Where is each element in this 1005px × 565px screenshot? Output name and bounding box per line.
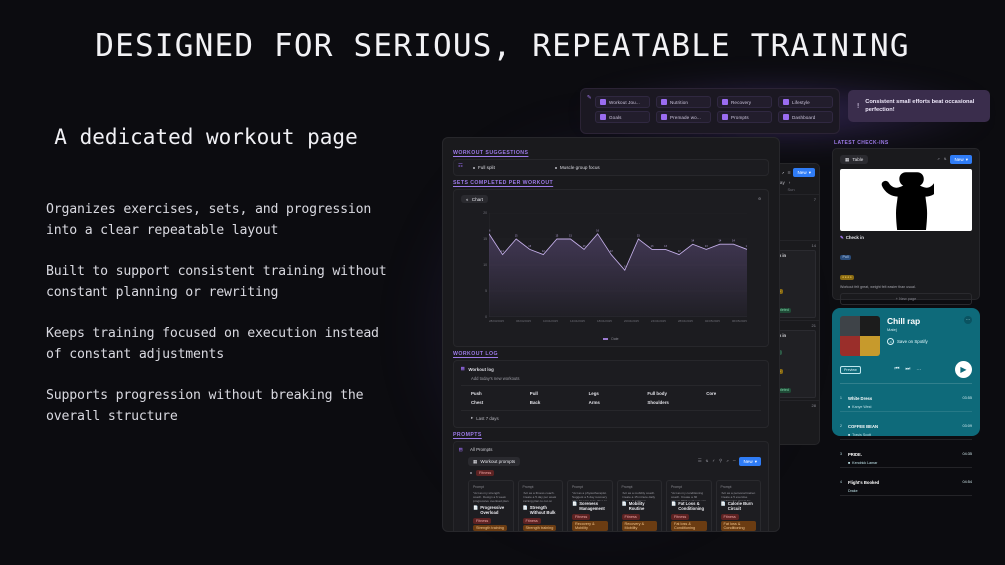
play-button[interactable]: ▶ — [955, 361, 972, 378]
check-ins-new-button[interactable]: New ▾ — [950, 155, 972, 164]
prompt-card-label: Prompt — [671, 485, 707, 489]
check-ins-title: LATEST CHECK-INS — [834, 140, 889, 146]
sets-chart-card: ◐ Chart ⚙ 05101520 — [453, 189, 769, 347]
prompt-card-title: Calorie Burn Circuit — [728, 501, 756, 512]
prompts-group-tag-row: Fitness — [470, 470, 761, 476]
spotify-icon: ♫ — [887, 338, 894, 345]
prompt-card-tags: Fitness Fat loss & Conditioning — [671, 514, 707, 532]
prompt-card[interactable]: Prompt "Act as a personal trainer. Creat… — [716, 480, 762, 532]
calendar-date[interactable]: 14 — [812, 243, 816, 248]
exclamation-icon: ! — [856, 102, 860, 110]
preview-badge: Preview — [840, 366, 861, 374]
prompt-tag: Fitness — [473, 518, 491, 524]
check-in-entry-type: Pull — [840, 255, 851, 260]
playlist-title: Chill rap — [887, 316, 972, 326]
flag-icon — [722, 114, 728, 120]
nav-item-nutrition[interactable]: Nutrition — [656, 96, 711, 108]
chart-x-tick: 24/04/2025 — [651, 319, 666, 329]
prompt-card-label: Prompt — [572, 485, 608, 489]
track-artist: Drake — [848, 489, 858, 493]
chart-legend: Date — [461, 337, 761, 341]
track-artist: Travis Scott — [852, 433, 871, 437]
workout-log-footer[interactable]: ▸ Last 7 days — [461, 410, 761, 421]
svg-text:13: 13 — [746, 244, 747, 248]
chart-y-tick: 10 — [483, 263, 487, 267]
prompts-view-label[interactable]: All Prompts — [470, 447, 492, 452]
chart-x-tick: 18/04/2025 — [597, 319, 612, 329]
prompt-card-tags: Fitness Strength training — [473, 518, 509, 532]
prompt-card-title: Strength Without Bulk — [530, 505, 558, 516]
prompt-card-title-row: 📄 Mobility Routine — [622, 501, 658, 512]
track-artist: Kanye West — [852, 405, 871, 409]
chart-x-tick: 28/03/2025 — [489, 319, 504, 329]
chart-icon: ◐ — [466, 197, 469, 202]
prompt-tag: Fitness — [721, 514, 739, 520]
prompt-card[interactable]: Prompt "Act as my strength coach. Design… — [468, 480, 514, 532]
expand-icon[interactable]: ↗ — [726, 459, 729, 464]
track-row[interactable]: 2 COFFEE BEAN ■ Travis Scott 03:09 — [840, 412, 972, 440]
check-in-entry-rating: ★★★★ — [840, 275, 854, 280]
calendar-new-button[interactable]: New ▾ — [793, 168, 815, 177]
nav-item-label: Prompts — [731, 115, 749, 120]
workout-suggestions-card: ☶ Full split Muscle group focus — [453, 159, 769, 176]
lightning-icon[interactable]: ⚡ — [712, 459, 715, 464]
log-button-back[interactable]: Back — [530, 400, 585, 405]
chart-x-tick: 06/05/2025 — [732, 319, 747, 329]
prompt-card-title-row: 📄 Strength Without Bulk — [523, 505, 559, 516]
nav-item-prompts[interactable]: Prompts — [717, 111, 772, 123]
prompt-card-body: "Act as a personal trainer. Create a 5 e… — [721, 491, 757, 501]
chart-menu-icon[interactable]: ⚙ — [758, 197, 761, 202]
next-track-icon[interactable]: ⏭ — [905, 366, 910, 373]
svg-text:13: 13 — [583, 244, 586, 248]
previous-track-icon[interactable]: ⏮ — [894, 366, 899, 373]
prompts-tool-icons: ☰ ⇅ ⚡ ⚲ ↗ ⋯ New ▾ — [698, 457, 761, 466]
bullet-dot-icon: ▸ — [471, 415, 473, 421]
svg-text:14: 14 — [691, 239, 694, 243]
slide-bullet-list: Organizes exercises, sets, and progressi… — [46, 200, 396, 448]
prompt-tag: Fitness — [671, 514, 689, 520]
prompt-card[interactable]: Prompt "Act as my conditioning coach. Cr… — [666, 480, 712, 532]
circle-icon — [783, 99, 789, 105]
check-in-photo — [840, 169, 972, 231]
track-artist: Kendrick Lamar — [852, 461, 877, 465]
check-ins-view-label: Table — [852, 157, 863, 162]
nav-item-label: Recovery — [731, 100, 751, 105]
track-duration: 03:55 — [962, 396, 972, 400]
plus-icon: + — [896, 297, 898, 301]
calendar-date[interactable]: 28 — [812, 403, 816, 408]
explicit-icon: ■ — [848, 405, 850, 409]
prompt-tag: Fat loss & Conditioning — [721, 521, 757, 531]
chart-chip-label: Chart — [472, 197, 483, 202]
prompt-card-label: Prompt — [473, 485, 509, 489]
nav-item-label: Lifestyle — [792, 100, 810, 105]
svg-text:12: 12 — [501, 249, 504, 253]
nav-item-label: Goals — [609, 115, 622, 120]
track-name: PRIDE. — [848, 452, 862, 457]
calendar-new-label: New — [797, 170, 806, 175]
prompt-card-tags: Fitness Strength training — [523, 518, 559, 532]
workout-log-note: Add today's new workouts — [461, 372, 761, 386]
prompt-card-body: "Act as my conditioning coach. Create a … — [671, 491, 707, 501]
explicit-icon: ■ — [848, 433, 850, 437]
calendar-date[interactable]: 21 — [812, 323, 816, 328]
chart-y-axis: 05101520 — [473, 213, 489, 317]
svg-text:15: 15 — [569, 233, 572, 237]
playlist-cover-art — [840, 316, 880, 356]
star-icon — [600, 114, 606, 120]
chart-x-tick: 06/04/2025 — [516, 319, 531, 329]
slide-root: DESIGNED FOR SERIOUS, REPEATABLE TRAININ… — [0, 0, 1005, 565]
prompts-new-label: New — [743, 459, 752, 464]
nav-item-label: Nutrition — [670, 100, 688, 105]
track-row[interactable]: 1 White Dress ■ Kanye West 03:55 — [840, 384, 972, 412]
suggestion-label: Muscle group focus — [560, 165, 600, 170]
check-in-entry-title: Check in — [846, 235, 864, 241]
log-button-pull[interactable]: Pull — [530, 391, 585, 396]
top-nav-panel: ✎ Workout Jou... Nutrition Recovery Life… — [580, 88, 840, 134]
chart-x-tick: 14/04/2025 — [570, 319, 585, 329]
workout-log-footer-label: Last 7 days — [476, 416, 498, 421]
nav-item-premade-workouts[interactable]: Premade wo... — [656, 111, 711, 123]
log-button-full-body[interactable]: Full body — [647, 391, 702, 396]
log-button-push[interactable]: Push — [471, 391, 526, 396]
track-number: 3 — [840, 452, 844, 456]
prompt-tag: Fat loss & Conditioning — [671, 521, 707, 531]
callout-banner: ! Consistent small efforts beat occasion… — [848, 90, 990, 122]
nav-item-dashboard[interactable]: Dashboard — [778, 111, 833, 123]
list-icon: ☶ — [458, 163, 463, 169]
chevron-down-icon: ▾ — [966, 157, 968, 163]
prompt-card-body: "Act as a fitness coach. Create a 5 day … — [523, 491, 559, 505]
prompt-tag: Recovery & Mobility — [622, 521, 658, 531]
more-icon[interactable]: ⋯ — [733, 459, 736, 464]
prompt-card-title-row: 📄 Soreness Management — [572, 501, 608, 512]
grid-icon: ▦ — [473, 459, 477, 465]
chart-x-tick: 02/05/2025 — [705, 319, 720, 329]
nav-item-goals[interactable]: Goals — [595, 111, 650, 123]
prompt-tag: Strength training — [473, 525, 507, 531]
slide-bullet: Organizes exercises, sets, and progressi… — [46, 200, 396, 241]
chart-svg: 161215131215151316129151313121413141413 — [489, 213, 747, 317]
page-icon: 📄 — [622, 501, 627, 512]
chart-x-axis: 28/03/202506/04/202510/04/202514/04/2025… — [489, 319, 747, 329]
calendar-date[interactable]: 7 — [814, 197, 816, 202]
legend-label: Date — [611, 337, 618, 341]
cover-tile — [860, 336, 880, 356]
save-on-spotify-button[interactable]: ♫ Save on Spotify — [887, 338, 972, 345]
track-row[interactable]: 4 Flight's Booked Drake 04:54 — [840, 468, 972, 496]
track-number: 2 — [840, 424, 844, 428]
collapse-icon[interactable] — [470, 472, 472, 474]
chart-x-tick: 20/04/2025 — [624, 319, 639, 329]
legend-swatch — [603, 338, 608, 340]
slide-subheadline: A dedicated workout page — [36, 120, 376, 154]
svg-text:13: 13 — [528, 244, 531, 248]
chart-y-tick: 5 — [485, 289, 487, 293]
prompt-card-title-row: 📄 Progressive Overload — [473, 505, 509, 516]
check-ins-new-label: New — [954, 157, 963, 162]
check-in-entry-note: Workout felt great, weight felt easier t… — [840, 285, 972, 289]
table-icon: ▦ — [845, 157, 849, 163]
transport-controls: ⏮ ⏭ ⋯ — [894, 366, 921, 373]
svg-text:13: 13 — [705, 244, 708, 248]
suggestion-muscle-group-focus[interactable]: Muscle group focus — [555, 165, 600, 170]
slide-bullet: Built to support consistent training wit… — [46, 262, 396, 303]
chart-y-tick: 15 — [483, 237, 487, 241]
svg-text:13: 13 — [664, 244, 667, 248]
nav-item-workout-journal[interactable]: Workout Jou... — [595, 96, 650, 108]
log-button-core[interactable]: Core — [706, 391, 761, 396]
expand-icon[interactable]: ↗ — [937, 157, 940, 162]
grid-icon: ▦ — [461, 366, 464, 372]
svg-text:13: 13 — [651, 244, 654, 248]
track-list: 1 White Dress ■ Kanye West 03:55 2 COFFE… — [840, 383, 972, 496]
prompt-card-grid: Prompt "Act as my strength coach. Design… — [468, 480, 761, 532]
svg-text:12: 12 — [610, 249, 613, 253]
suggestion-full-split[interactable]: Full split — [473, 165, 495, 170]
cover-tile — [840, 336, 860, 356]
prompt-card[interactable]: Prompt "Act as a fitness coach. Create a… — [518, 480, 564, 532]
workout-page-panel: WORKOUT SUGGESTIONS ☶ Full split Muscle … — [442, 137, 780, 532]
book-icon — [600, 99, 606, 105]
calendar-next-button[interactable]: › — [789, 180, 791, 185]
prompt-card-body: "Act as my strength coach. Design a 6 we… — [473, 491, 509, 505]
workout-log-button-grid: Push Pull Legs Full body Core Chest Back… — [461, 386, 761, 410]
cover-tile — [840, 316, 860, 336]
log-button-arms[interactable]: Arms — [589, 400, 644, 405]
svg-text:15: 15 — [555, 233, 558, 237]
search-icon[interactable]: ⚲ — [719, 459, 722, 464]
suggestion-label: Full split — [478, 165, 495, 170]
svg-text:15: 15 — [515, 233, 518, 237]
prompt-tag: Fitness — [523, 518, 541, 524]
nav-item-label: Premade wo... — [670, 115, 701, 120]
svg-text:12: 12 — [542, 249, 545, 253]
prompt-card-title-row: 📄 Calorie Burn Circuit — [721, 501, 757, 512]
nav-item-label: Workout Jou... — [609, 100, 640, 105]
page-icon: 📄 — [473, 505, 478, 516]
svg-text:16: 16 — [596, 228, 599, 232]
chevron-down-icon: ▾ — [809, 170, 811, 176]
section-title-chart: SETS COMPLETED PER WORKOUT — [453, 180, 769, 186]
explicit-icon: ■ — [848, 461, 850, 465]
chart-plot-area: 161215131215151316129151313121413141413 — [489, 213, 747, 317]
chevron-down-icon: ▾ — [755, 459, 757, 465]
prompts-card: ▤ All Prompts ▦ Workout prompts ☰ ⇅ ⚡ ⚲ … — [453, 441, 769, 532]
filter-icon[interactable]: ≡ — [787, 170, 790, 176]
chart-x-tick: 28/04/2025 — [678, 319, 693, 329]
playlist-owner: Matej — [887, 327, 972, 332]
close-icon[interactable]: ⋯ — [964, 316, 972, 324]
check-ins-toolbar: ▦ Table ↗ ⇅ New ▾ — [840, 155, 972, 164]
track-row[interactable]: 3 PRIDE. ■ Kendrick Lamar 04:35 — [840, 440, 972, 468]
prompt-tag: Strength training — [523, 525, 557, 531]
track-number: 4 — [840, 480, 844, 484]
chart-y-tick: 20 — [483, 211, 487, 215]
track-duration: 04:54 — [962, 480, 972, 484]
cover-tile — [860, 316, 880, 336]
prompt-card-tags: Fitness Recovery & Mobility — [572, 514, 608, 532]
check-in-entry-title-row: ✎ Check in — [840, 235, 972, 241]
check-ins-panel: LATEST CHECK-INS ▦ Table ↗ ⇅ New ▾ ✎ Che… — [832, 148, 980, 300]
prompt-tag: Fitness — [622, 514, 640, 520]
filter-icon[interactable]: ☰ — [698, 459, 702, 464]
prompt-card-body: "Act as a mobility coach. Create a 15 mi… — [622, 491, 658, 501]
page-icon: 📄 — [671, 501, 676, 512]
svg-text:14: 14 — [718, 239, 721, 243]
track-name: Flight's Booked — [848, 480, 879, 485]
prompt-card-tags: Fitness Fat loss & Conditioning — [721, 514, 757, 532]
check-ins-new-page-button[interactable]: + New page — [840, 293, 972, 305]
prompt-card-title: Soreness Management — [579, 501, 607, 512]
svg-text:15: 15 — [637, 233, 640, 237]
prompt-tag: Fitness — [572, 514, 590, 520]
sort-icon[interactable]: ⇅ — [944, 157, 947, 162]
prompts-group-tag: Fitness — [476, 470, 494, 476]
prompt-card-title: Progressive Overload — [480, 505, 508, 516]
callout-text: Consistent small efforts beat occasional… — [865, 98, 982, 115]
prompts-toolbar: ▦ Workout prompts ☰ ⇅ ⚡ ⚲ ↗ ⋯ New ▾ — [468, 457, 761, 466]
bodybuilder-silhouette-icon — [878, 170, 934, 230]
page-icon: 📄 — [721, 501, 726, 512]
workout-log-card: ▦ Workout log Add today's new workouts P… — [453, 360, 769, 428]
track-duration: 04:35 — [962, 452, 972, 456]
check-ins-new-page-label: New page — [899, 297, 916, 301]
spotify-header: Chill rap Matej ♫ Save on Spotify — [840, 316, 972, 356]
check-ins-view-chip[interactable]: ▦ Table — [840, 155, 868, 164]
track-duration: 03:09 — [962, 424, 972, 428]
section-title-suggestions: WORKOUT SUGGESTIONS — [453, 150, 769, 156]
track-name: White Dress — [848, 396, 872, 401]
log-button-shoulders[interactable]: Shoulders — [647, 400, 702, 405]
pencil-icon: ✎ — [840, 235, 844, 241]
prompt-card[interactable]: Prompt "Act as a mobility coach. Create … — [617, 480, 663, 532]
prompt-card-tags: Fitness Recovery & Mobility — [622, 514, 658, 532]
nav-item-recovery[interactable]: Recovery — [717, 96, 772, 108]
svg-text:12: 12 — [678, 249, 681, 253]
expand-icon[interactable]: ↗ — [781, 170, 784, 176]
prompt-tag: Recovery & Mobility — [572, 521, 608, 531]
bullet-dot-icon — [473, 167, 475, 169]
prompt-card-title: Fat Loss & Conditioning — [678, 501, 706, 512]
gauge-icon — [783, 114, 789, 120]
page-icon: 📄 — [523, 505, 528, 516]
database-icon: ▤ — [459, 447, 462, 453]
chart-y-tick: 0 — [485, 315, 487, 319]
workout-log-header: Workout log — [468, 367, 494, 372]
save-on-spotify-label: Save on Spotify — [897, 339, 928, 344]
page-icon: 📄 — [572, 501, 577, 512]
more-icon[interactable]: ⋯ — [916, 367, 921, 373]
check-icon — [661, 114, 667, 120]
prompt-card[interactable]: Prompt "Act as a physiotherapist. Sugges… — [567, 480, 613, 532]
svg-text:16: 16 — [489, 228, 491, 232]
nav-item-label: Dashboard — [792, 115, 815, 120]
prompt-card-title: Mobility Routine — [629, 501, 657, 512]
log-button-chest[interactable]: Chest — [471, 400, 526, 405]
prompt-card-label: Prompt — [721, 485, 757, 489]
prompts-new-button[interactable]: New ▾ — [739, 457, 761, 466]
section-title-log: WORKOUT LOG — [453, 351, 769, 357]
chart-x-tick: 10/04/2025 — [543, 319, 558, 329]
slide-bullet: Keeps training focused on execution inst… — [46, 324, 396, 365]
svg-text:14: 14 — [732, 239, 735, 243]
refresh-icon — [722, 99, 728, 105]
sets-completed-chart: 05101520 161215131215151316129151313121 — [461, 209, 761, 341]
prompts-chip-label: Workout prompts — [480, 459, 515, 464]
bullet-dot-icon — [555, 167, 557, 169]
nav-item-lifestyle[interactable]: Lifestyle — [778, 96, 833, 108]
spotify-player-panel: ⋯ Chill rap Matej ♫ Save on Spotify Prev… — [832, 308, 980, 436]
apple-icon — [661, 99, 667, 105]
chart-view-chip[interactable]: ◐ Chart — [461, 195, 488, 203]
slide-bullet: Supports progression without breaking th… — [46, 386, 396, 427]
prompt-card-title-row: 📄 Fat Loss & Conditioning — [671, 501, 707, 512]
slide-headline: DESIGNED FOR SERIOUS, REPEATABLE TRAININ… — [0, 28, 1005, 64]
prompt-card-body: "Act as a physiotherapist. Suggest a 5 d… — [572, 491, 608, 501]
suggestions-row: Full split Muscle group focus — [461, 165, 761, 170]
log-button-legs[interactable]: Legs — [589, 391, 644, 396]
sort-icon[interactable]: ⇅ — [706, 459, 709, 464]
pencil-icon: ✎ — [587, 93, 591, 101]
track-name: COFFEE BEAN — [848, 424, 878, 429]
track-number: 1 — [840, 396, 844, 400]
nav-grid: Workout Jou... Nutrition Recovery Lifest… — [595, 96, 833, 123]
prompt-card-label: Prompt — [523, 485, 559, 489]
spotify-controls: Preview ⏮ ⏭ ⋯ ▶ — [840, 361, 972, 378]
section-title-prompts: PROMPTS — [453, 432, 769, 438]
prompts-filter-chip[interactable]: ▦ Workout prompts — [468, 457, 520, 466]
prompt-card-label: Prompt — [622, 485, 658, 489]
